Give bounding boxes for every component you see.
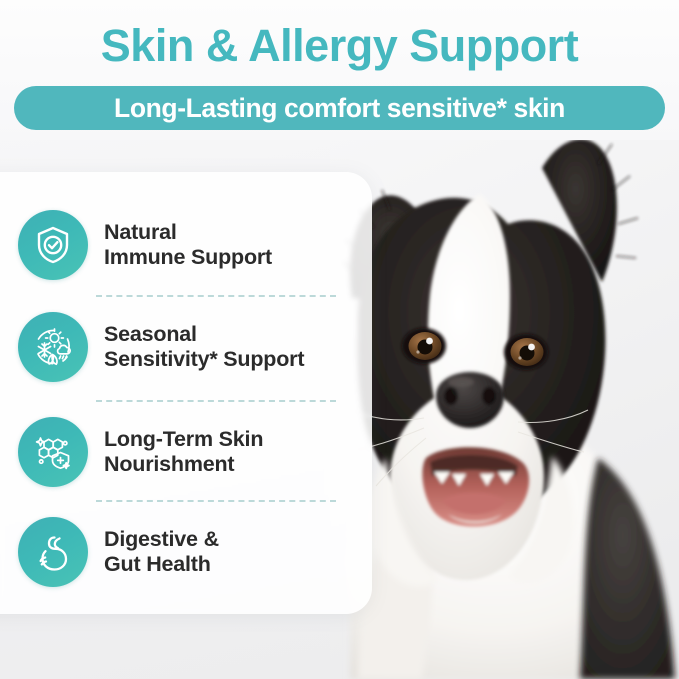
benefits-card: Natural Immune Support	[0, 172, 372, 614]
feature-item[interactable]: Long-Term Skin Nourishment	[18, 417, 263, 487]
feature-label: Seasonal Sensitivity* Support	[104, 322, 304, 372]
skin-cells-shield-icon	[18, 417, 88, 487]
feature-divider	[96, 400, 336, 402]
feature-item[interactable]: Seasonal Sensitivity* Support	[18, 312, 304, 382]
shield-check-icon	[18, 210, 88, 280]
feature-item[interactable]: Digestive & Gut Health	[18, 517, 219, 587]
stomach-icon	[18, 517, 88, 587]
subtitle-text: Long-Lasting comfort sensitive* skin	[114, 93, 565, 124]
feature-divider	[96, 295, 336, 297]
feature-label: Long-Term Skin Nourishment	[104, 427, 263, 477]
page-title: Skin & Allergy Support	[0, 20, 679, 72]
product-feature-graphic: Natural Immune Support	[0, 0, 679, 679]
subtitle-banner: Long-Lasting comfort sensitive* skin	[14, 86, 665, 130]
seasonal-weather-icon	[18, 312, 88, 382]
feature-divider	[96, 500, 336, 502]
feature-item[interactable]: Natural Immune Support	[18, 210, 272, 280]
header-area: Skin & Allergy Support Long-Lasting comf…	[0, 0, 679, 140]
feature-label: Natural Immune Support	[104, 220, 272, 270]
border-collie-dog-photo	[330, 128, 679, 679]
feature-label: Digestive & Gut Health	[104, 527, 219, 577]
